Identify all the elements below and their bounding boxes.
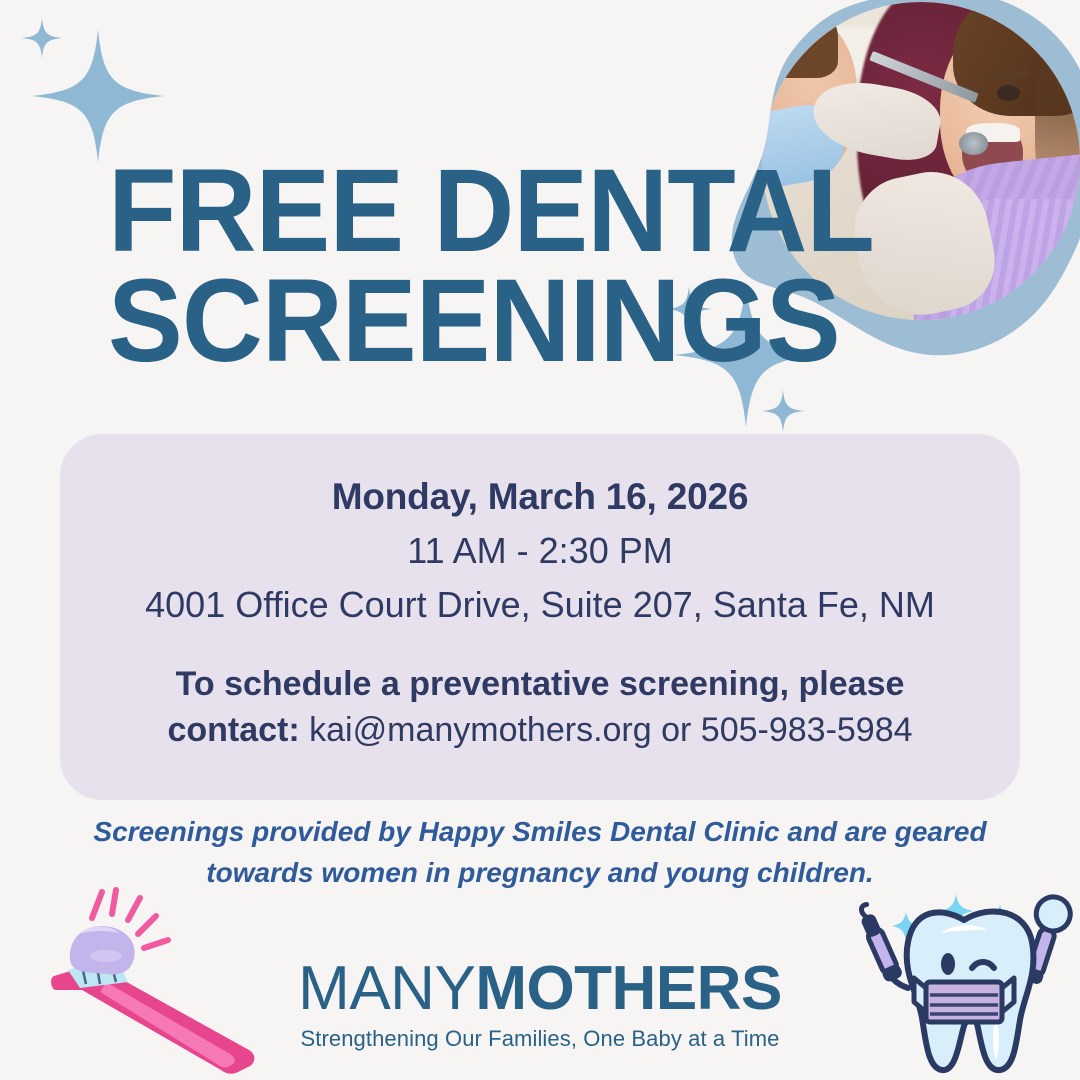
sparkle-icon: [22, 18, 62, 58]
contact-email[interactable]: kai@manymothers.org: [309, 711, 652, 749]
logo-word-many: MANY: [298, 954, 475, 1023]
headline-line-1: FREE DENTAL: [108, 157, 697, 267]
mascot-face-mask: [926, 982, 1002, 1022]
note-line-2: towards women in pregnancy and young chi…: [206, 857, 873, 888]
disclaimer-note: Screenings provided by Happy Smiles Dent…: [90, 812, 990, 893]
event-address: 4001 Office Court Drive, Suite 207, Sant…: [94, 584, 986, 626]
poster-canvas: FREE DENTAL SCREENINGS Monday, March 16,…: [0, 0, 1080, 1080]
toothbrush-illustration: [24, 884, 274, 1080]
event-date: Monday, March 16, 2026: [94, 476, 986, 518]
logo-tagline: Strengthening Our Families, One Baby at …: [260, 1026, 820, 1052]
logo-word-mothers: MOTHERS: [475, 954, 782, 1023]
mascot-eye: [941, 953, 955, 975]
headline-line-2: SCREENINGS: [108, 267, 697, 377]
contact-conjunction: or: [652, 711, 701, 749]
note-line-1: Screenings provided by Happy Smiles Dent…: [93, 816, 986, 847]
toothbrush-handle-highlight: [100, 982, 235, 1068]
logo-wordmark: MANYMOTHERS: [260, 958, 820, 1020]
contact-lead: To schedule a preventative screening, pl…: [176, 665, 905, 703]
event-time: 11 AM - 2:30 PM: [94, 530, 986, 572]
contact-phone[interactable]: 505-983-5984: [701, 711, 913, 749]
tooth-mascot-illustration: [848, 892, 1080, 1080]
sparkle-icon: [762, 390, 804, 432]
sparkle-icon: [32, 30, 164, 162]
contact-block: To schedule a preventative screening, pl…: [94, 662, 986, 754]
page-title: FREE DENTAL SCREENINGS: [108, 157, 697, 376]
event-details-panel: Monday, March 16, 2026 11 AM - 2:30 PM 4…: [60, 434, 1020, 800]
contact-label: contact: [167, 711, 288, 749]
contact-separator: :: [288, 711, 309, 749]
manymothers-logo: MANYMOTHERS Strengthening Our Families, …: [260, 958, 820, 1052]
